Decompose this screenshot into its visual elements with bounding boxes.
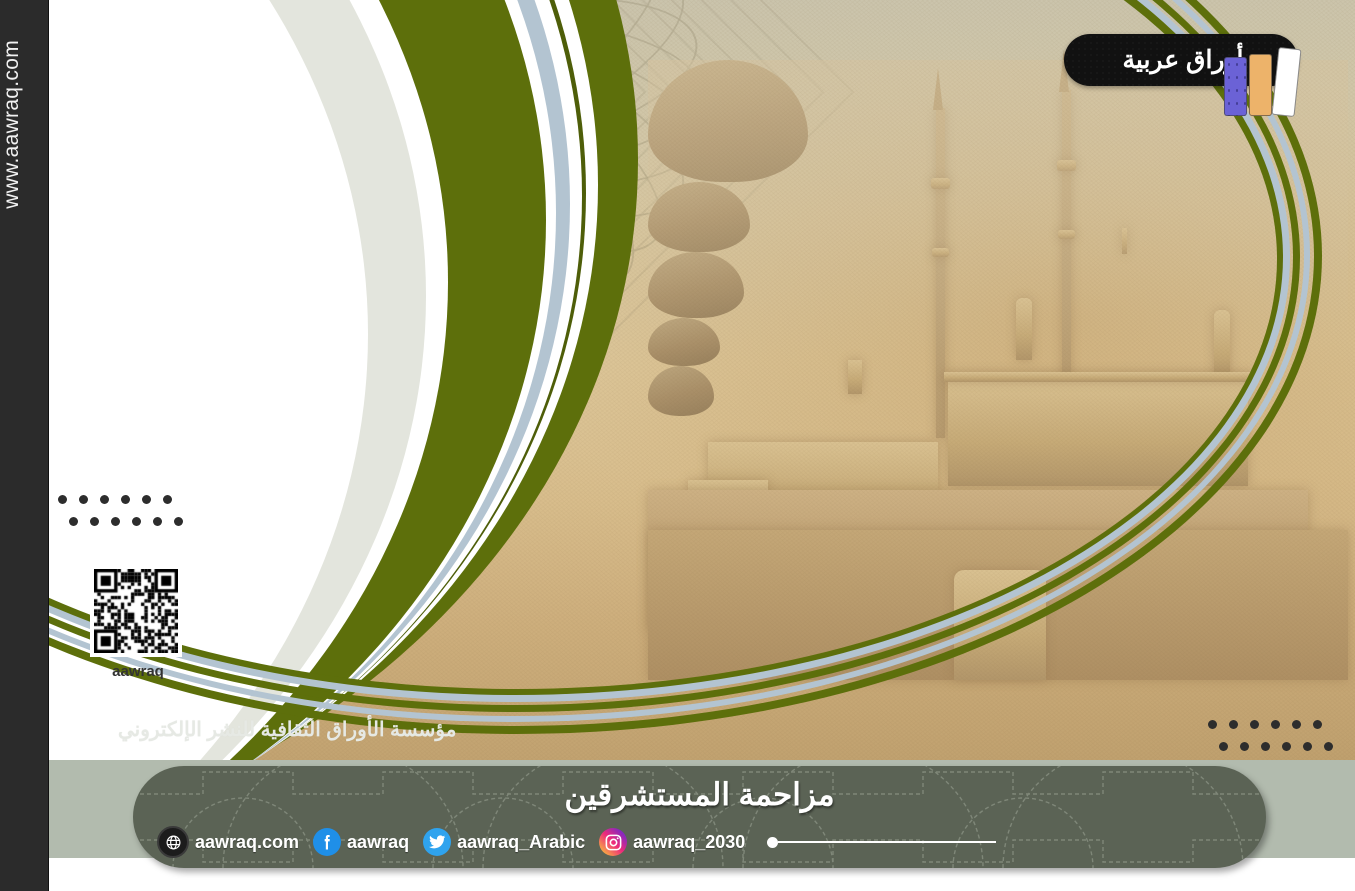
trailer-line: [778, 841, 996, 843]
social-link-aawraq[interactable]: aawraq: [313, 828, 409, 856]
social-link-aawraq-2030[interactable]: aawraq_2030: [599, 828, 745, 856]
twitter-icon[interactable]: [423, 828, 451, 856]
instagram-icon[interactable]: [599, 828, 627, 856]
social-label: aawraq_Arabic: [457, 832, 585, 853]
social-link-aawraq-com[interactable]: aawraq.com: [157, 826, 299, 858]
institution-name: مؤسسة الأوراق الثقافية للنشر الإلكتروني: [118, 717, 456, 742]
artwork-area: aawraq مؤسسة الأوراق الثقافية للنشر الإل…: [48, 0, 1355, 891]
progress-trailer: [767, 837, 1242, 848]
qr-code-icon[interactable]: [90, 565, 182, 657]
page-title: مزاحمة المستشرقين: [133, 777, 1266, 813]
purple-book-icon: [1224, 57, 1247, 116]
social-label: aawraq: [347, 832, 409, 853]
swoosh-group-left: [48, 0, 1355, 760]
brand-logo[interactable]: أوراق عربية: [1064, 34, 1298, 86]
social-label: aawraq.com: [195, 832, 299, 853]
social-label: aawraq_2030: [633, 832, 745, 853]
white-book-icon: [1272, 47, 1302, 117]
trailer-dot: [767, 837, 778, 848]
sidebar-website-url[interactable]: www.aawraq.com: [0, 40, 48, 209]
orange-book-icon: [1249, 54, 1272, 116]
social-link-aawraq-arabic[interactable]: aawraq_Arabic: [423, 828, 585, 856]
left-sidebar: www.aawraq.com: [0, 0, 49, 891]
social-links-row: aawraq.comaawraqaawraq_Arabicaawraq_2030: [157, 825, 1242, 859]
bottom-bar: مزاحمة المستشرقين aawraq.comaawraqaawraq…: [133, 766, 1266, 868]
qr-block: aawraq: [90, 565, 186, 680]
books-icon: [1222, 54, 1298, 116]
globe-icon[interactable]: [157, 826, 189, 858]
facebook-icon[interactable]: [313, 828, 341, 856]
poster-canvas: aawraq مؤسسة الأوراق الثقافية للنشر الإل…: [0, 0, 1355, 891]
qr-label: aawraq: [90, 663, 186, 680]
